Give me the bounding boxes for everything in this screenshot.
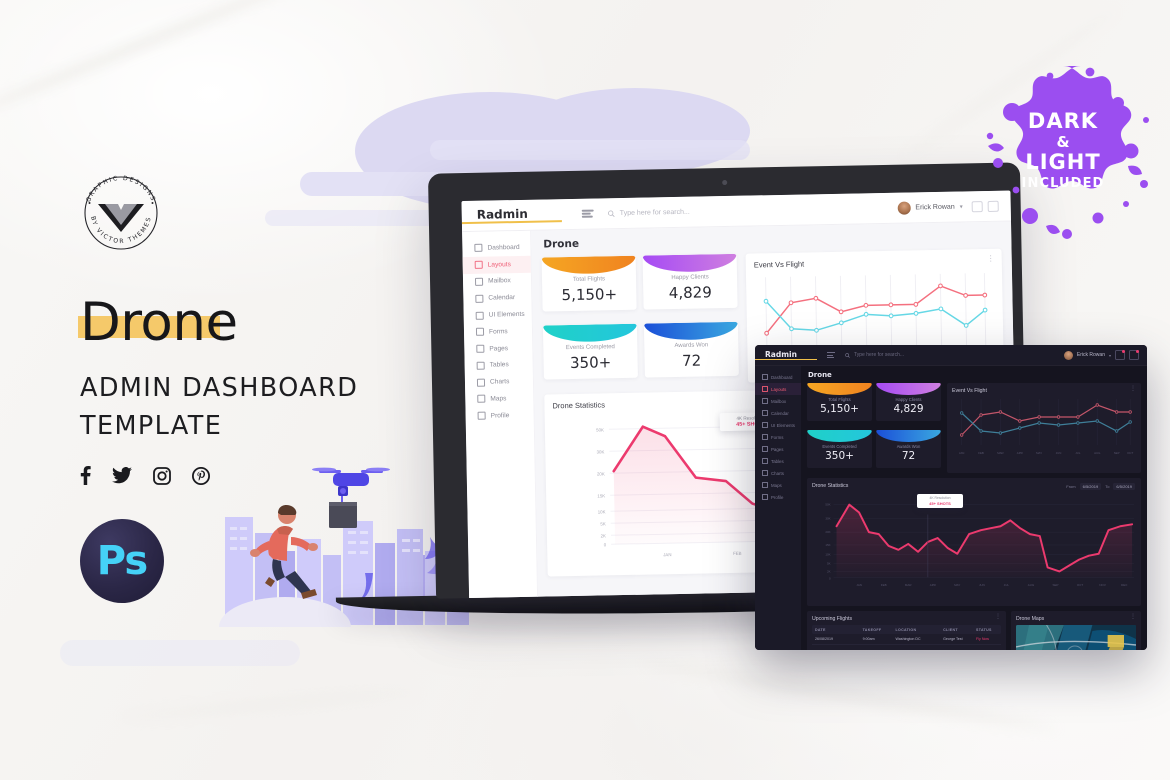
victor-themes-badge: GRAPHIC DESIGNS BY VICTOR THEMES <box>78 170 164 256</box>
sidebar-item-tables[interactable]: Tables <box>755 455 801 467</box>
stat-card-events-completed: Events Completed 350+ <box>543 324 638 380</box>
bar-chart-icon <box>477 378 485 386</box>
grid-icon <box>474 244 482 252</box>
sidebar-item-dashboard[interactable]: Dashboard <box>755 371 801 383</box>
date-range-controls: From 6/5/2019 To 6/5/2019 <box>1066 483 1135 490</box>
stat-label: Awards Won <box>644 342 738 350</box>
stat-label: Total Flights <box>542 276 636 284</box>
drone-maps-panel: Drone Maps ⋮ <box>1011 611 1141 650</box>
avatar <box>1064 351 1073 360</box>
table-icon <box>762 458 768 464</box>
svg-text:MAY: MAY <box>954 583 960 587</box>
stat-value: 350+ <box>807 450 872 462</box>
svg-text:APR: APR <box>1017 451 1023 455</box>
sidebar-item-charts[interactable]: Charts <box>465 373 533 391</box>
sidebar-item-label: Charts <box>771 471 784 476</box>
sidebar-item-forms[interactable]: Forms <box>464 323 532 341</box>
search-placeholder: Type here for search... <box>620 208 690 216</box>
search-placeholder: Type here for search... <box>854 352 904 358</box>
mail-icon <box>762 398 768 404</box>
instagram-icon[interactable] <box>153 467 171 485</box>
stat-label: Awards Won <box>876 444 941 449</box>
svg-text:MAR: MAR <box>905 583 912 587</box>
cloud-shape <box>520 88 750 174</box>
svg-text:50K: 50K <box>596 427 604 432</box>
sidebar-item-maps[interactable]: Maps <box>755 479 801 491</box>
splat-line-4: INCLUDED <box>968 177 1158 191</box>
svg-text:FEB: FEB <box>733 551 742 556</box>
sidebar-item-layouts[interactable]: Layouts <box>755 383 801 395</box>
hamburger-icon[interactable] <box>827 352 835 358</box>
user-icon <box>478 412 486 420</box>
search-input[interactable]: Type here for search... <box>608 208 690 217</box>
panel-title: Upcoming Flights <box>812 616 1001 622</box>
sidebar-item-charts[interactable]: Charts <box>755 467 801 479</box>
chevron-down-icon: ▾ <box>1109 353 1111 358</box>
range-from-value[interactable]: 6/5/2019 <box>1080 483 1102 490</box>
more-options-icon[interactable]: ⋮ <box>1130 388 1136 392</box>
sidebar-item-label: Calendar <box>771 411 789 416</box>
subtitle-line-2: TEMPLATE <box>80 408 410 446</box>
panel-title: Event Vs Flight <box>952 388 1136 394</box>
map-icon <box>762 482 768 488</box>
sidebar-item-label: UI Elements <box>489 311 525 319</box>
file-icon <box>762 434 768 440</box>
copy-icon <box>762 446 768 452</box>
svg-text:AUG: AUG <box>1094 451 1101 455</box>
range-to-value[interactable]: 6/5/2019 <box>1113 483 1135 490</box>
user-menu[interactable]: Erick Rowan ▾ <box>1064 350 1147 360</box>
sidebar-item-layouts[interactable]: Layouts <box>463 256 531 274</box>
svg-text:2K: 2K <box>827 569 831 573</box>
grid-icon <box>762 374 768 380</box>
stat-card-awards-won: Awards Won 72 <box>876 430 941 468</box>
sidebar-item-mailbox[interactable]: Mailbox <box>755 395 801 407</box>
sidebar-item-tables[interactable]: Tables <box>465 356 533 374</box>
table-icon <box>477 362 485 370</box>
dark-dashboard: Radmin Type here for search... Erick Row… <box>755 345 1147 650</box>
svg-text:50K: 50K <box>825 503 830 507</box>
app-logo[interactable]: Radmin <box>755 350 817 360</box>
svg-text:15K: 15K <box>825 543 830 547</box>
card-accent <box>542 256 636 275</box>
stat-card-events-completed: Events Completed 350+ <box>807 430 872 468</box>
stat-card-grid: Total Flights 5,150+ Happy Clients 4,829… <box>807 383 942 473</box>
svg-text:GRAPHIC DESIGNS: GRAPHIC DESIGNS <box>85 175 157 203</box>
svg-text:20K: 20K <box>825 530 830 534</box>
photoshop-badge: Ps <box>80 519 164 603</box>
event-vs-flight-panel: Event Vs Flight ⋮ <box>947 383 1141 473</box>
svg-text:JAN: JAN <box>959 451 964 455</box>
stat-value: 5,150+ <box>807 403 872 415</box>
svg-text:DEC: DEC <box>1121 583 1128 587</box>
svg-text:MAR: MAR <box>997 451 1003 455</box>
splat-line-1: DARK <box>968 110 1158 133</box>
cell-date: 26/08/2019 <box>815 637 863 641</box>
svg-text:2K: 2K <box>601 533 607 538</box>
svg-text:5K: 5K <box>600 521 606 526</box>
svg-text:NOV: NOV <box>1099 583 1105 587</box>
dark-main-content: Drone Total Flights 5,150+ Happy Clients… <box>801 366 1147 650</box>
column-header-date: DATE <box>815 628 863 632</box>
laptop-camera <box>722 180 727 185</box>
stat-card-total-flights: Total Flights 5,150+ <box>807 383 872 421</box>
card-accent <box>807 430 872 442</box>
pinterest-icon[interactable] <box>192 467 210 485</box>
status-badge[interactable]: Fly Now <box>976 637 998 641</box>
wand-icon <box>762 422 768 428</box>
column-header-client: CLIENT <box>943 628 976 632</box>
more-options-icon[interactable]: ⋮ <box>1130 616 1136 620</box>
app-logo[interactable]: Radmin <box>462 206 562 224</box>
cell-location: Washington DC <box>896 637 944 641</box>
sidebar-item-dashboard[interactable]: Dashboard <box>462 239 530 257</box>
page-title: Drone <box>80 296 238 349</box>
sidebar-item-label: Layouts <box>771 387 786 392</box>
svg-text:30K: 30K <box>825 516 830 520</box>
svg-text:SEP: SEP <box>1114 451 1120 455</box>
expand-icon[interactable] <box>1115 350 1125 360</box>
stat-value: 72 <box>876 450 941 462</box>
card-accent <box>876 383 941 395</box>
sidebar-item-label: Profile <box>491 412 510 419</box>
delivery-drone <box>312 468 390 528</box>
card-accent <box>543 324 637 343</box>
file-icon <box>476 328 484 336</box>
sidebar-item-label: Mailbox <box>771 399 786 404</box>
sidebar-item-label: Calendar <box>488 294 515 302</box>
sidebar-item-calendar[interactable]: Calendar <box>463 289 531 307</box>
sidebar-item-ui-elements[interactable]: UI Elements <box>464 306 532 324</box>
stat-value: 5,150+ <box>542 285 636 305</box>
dark-light-splat-badge: DARK & LIGHT INCLUDED <box>968 58 1158 243</box>
svg-text:JUL: JUL <box>1075 451 1080 455</box>
column-header-location: LOCATION <box>896 628 944 632</box>
card-accent <box>644 322 738 341</box>
stat-card-happy-clients: Happy Clients 4,829 <box>643 254 738 310</box>
more-options-icon[interactable]: ⋮ <box>995 616 1001 620</box>
avatar <box>897 201 910 214</box>
stat-label: Total Flights <box>807 397 872 402</box>
stat-card-total-flights: Total Flights 5,150+ <box>542 256 637 312</box>
sidebar-item-label: Tables <box>771 459 784 464</box>
cloud-shape <box>430 140 750 160</box>
column-header-status: STATUS <box>976 628 998 632</box>
svg-text:FEB: FEB <box>978 451 984 455</box>
drone-statistics-chart: 50K30K20K 15K10K5K 2K0 JANFEBMAR APRMAYJ… <box>812 490 1136 590</box>
sidebar-item-ui-elements[interactable]: UI Elements <box>755 419 801 431</box>
svg-text:JUL: JUL <box>1004 583 1010 587</box>
range-from-label: From <box>1066 484 1075 489</box>
sidebar-item-pages[interactable]: Pages <box>464 339 532 357</box>
user-name: Erick Rowan <box>915 203 954 211</box>
light-sidebar: Dashboard Layouts Mailbox Calendar UI El… <box>462 231 538 598</box>
dashboard-title: Drone <box>543 230 1001 251</box>
sidebar-item-label: Layouts <box>488 261 511 268</box>
table-row[interactable]: 26/08/2019 9:00am Washington DC George T… <box>812 634 1001 645</box>
svg-text:SEP: SEP <box>1053 583 1059 587</box>
layers-icon <box>475 261 483 269</box>
sidebar-item-maps[interactable]: Maps <box>465 390 533 408</box>
sidebar-item-label: UI Elements <box>771 423 795 428</box>
sidebar-item-forms[interactable]: Forms <box>755 431 801 443</box>
search-input[interactable]: Type here for search... <box>845 352 904 358</box>
promo-subtitle: ADMIN DASHBOARD TEMPLATE <box>80 370 410 445</box>
marble-vein <box>642 657 1059 735</box>
panel-title: Drone Maps <box>1016 616 1136 622</box>
card-accent <box>643 254 737 273</box>
running-person <box>250 505 318 599</box>
svg-text:APR: APR <box>930 583 936 587</box>
promo-stage: GRAPHIC DESIGNS BY VICTOR THEMES Drone A… <box>0 0 1170 780</box>
sidebar-item-mailbox[interactable]: Mailbox <box>463 272 531 290</box>
dashboard-title: Drone <box>808 371 1141 379</box>
card-accent <box>807 383 872 395</box>
victor-v-logo <box>98 204 144 232</box>
layers-icon <box>762 386 768 392</box>
tooltip-value: 45+ SHOTS <box>920 501 960 506</box>
stat-label: Events Completed <box>807 444 872 449</box>
svg-text:10K: 10K <box>598 509 606 514</box>
stat-value: 4,829 <box>876 403 941 415</box>
splat-line-3: LIGHT <box>968 151 1158 174</box>
twitter-icon[interactable] <box>112 467 132 484</box>
more-options-icon[interactable]: ⋮ <box>987 256 995 261</box>
chart-tooltip: 4K Resolution 45+ SHOTS <box>917 494 963 508</box>
bar-chart-icon <box>762 470 768 476</box>
map-icon <box>477 395 485 403</box>
svg-text:MAY: MAY <box>1036 451 1042 455</box>
dark-topbar: Radmin Type here for search... Erick Row… <box>755 345 1147 366</box>
sidebar-item-label: Profile <box>771 495 783 500</box>
svg-text:15K: 15K <box>597 493 605 498</box>
dark-sidebar: Dashboard Layouts Mailbox Calendar UI El… <box>755 366 801 650</box>
table-header-row: DATE TAKEOFF LOCATION CLIENT STATUS <box>812 625 1001 634</box>
splat-text: DARK & LIGHT INCLUDED <box>968 110 1158 191</box>
search-icon <box>845 353 850 358</box>
calendar-icon <box>762 410 768 416</box>
splat-line-2: & <box>968 134 1158 150</box>
photoshop-label: Ps <box>97 541 147 581</box>
badge-top-text: GRAPHIC DESIGNS <box>85 175 157 203</box>
stat-label: Events Completed <box>543 344 637 352</box>
search-icon <box>608 210 615 217</box>
sidebar-item-label: Pages <box>771 447 783 452</box>
svg-text:OCT: OCT <box>1077 583 1083 587</box>
sidebar-item-label: Pages <box>489 345 508 352</box>
svg-text:0: 0 <box>829 576 831 580</box>
svg-text:OCT: OCT <box>1127 451 1133 455</box>
stat-card-awards-won: Awards Won 72 <box>644 322 739 378</box>
svg-text:JAN: JAN <box>856 583 862 587</box>
mail-icon <box>475 278 483 286</box>
notifications-icon[interactable] <box>1129 350 1139 360</box>
wand-icon <box>476 311 484 319</box>
sidebar-item-label: Charts <box>490 378 510 385</box>
stat-value: 350+ <box>543 353 637 373</box>
stat-label: Happy Clients <box>643 274 737 282</box>
user-icon <box>762 494 768 500</box>
copy-icon <box>476 345 484 353</box>
social-links <box>80 466 210 485</box>
sidebar-item-label: Mailbox <box>488 278 511 285</box>
stat-card-grid: Total Flights 5,150+ Happy Clients 4,829… <box>542 254 740 387</box>
svg-text:30K: 30K <box>596 449 604 454</box>
tooltip-title: 4K Resolution <box>920 496 960 500</box>
sidebar-item-profile[interactable]: Profile <box>755 491 801 503</box>
upcoming-flights-panel: Upcoming Flights ⋮ DATE TAKEOFF LOCATION… <box>807 611 1006 650</box>
svg-text:FEB: FEB <box>881 583 887 587</box>
sidebar-item-label: Dashboard <box>487 244 519 252</box>
stat-value: 72 <box>644 351 738 371</box>
user-name: Erick Rowan <box>1077 352 1105 358</box>
subtitle-line-1: ADMIN DASHBOARD <box>80 370 410 408</box>
hamburger-icon[interactable] <box>582 210 594 218</box>
drone-statistics-panel: Drone Statistics From 6/5/2019 To 6/5/20… <box>807 478 1141 606</box>
range-to-label: To <box>1105 484 1109 489</box>
sidebar-item-profile[interactable]: Profile <box>465 407 533 425</box>
cell-client: George Test <box>943 637 976 641</box>
map-image[interactable] <box>1016 625 1136 650</box>
svg-text:5K: 5K <box>827 562 831 566</box>
sidebar-item-label: Forms <box>489 328 508 335</box>
svg-text:10K: 10K <box>825 553 830 557</box>
svg-text:JUN: JUN <box>1056 451 1062 455</box>
svg-text:0: 0 <box>604 542 607 547</box>
sidebar-item-label: Maps <box>771 483 782 488</box>
event-vs-flight-chart: JANFEBMAR APRMAYJUN JULAUGSEP OCT <box>952 395 1136 459</box>
sidebar-item-label: Tables <box>490 362 509 369</box>
promo-column: GRAPHIC DESIGNS BY VICTOR THEMES Drone A… <box>0 0 420 780</box>
sidebar-item-pages[interactable]: Pages <box>755 443 801 455</box>
column-header-takeoff: TAKEOFF <box>863 628 896 632</box>
calendar-icon <box>475 294 483 302</box>
svg-text:AUG: AUG <box>1028 583 1035 587</box>
facebook-icon[interactable] <box>80 466 91 485</box>
cell-takeoff: 9:00am <box>863 637 896 641</box>
chevron-down-icon: ▾ <box>960 203 963 210</box>
sidebar-item-label: Forms <box>771 435 783 440</box>
sidebar-item-label: Dashboard <box>771 375 792 380</box>
card-accent <box>876 430 941 442</box>
stat-value: 4,829 <box>643 283 737 303</box>
svg-text:20K: 20K <box>597 471 605 476</box>
sidebar-item-calendar[interactable]: Calendar <box>755 407 801 419</box>
svg-text:JAN: JAN <box>663 552 671 557</box>
sidebar-item-label: Maps <box>490 395 506 402</box>
stat-label: Happy Clients <box>876 397 941 402</box>
stat-card-happy-clients: Happy Clients 4,829 <box>876 383 941 421</box>
svg-text:JUN: JUN <box>979 583 985 587</box>
